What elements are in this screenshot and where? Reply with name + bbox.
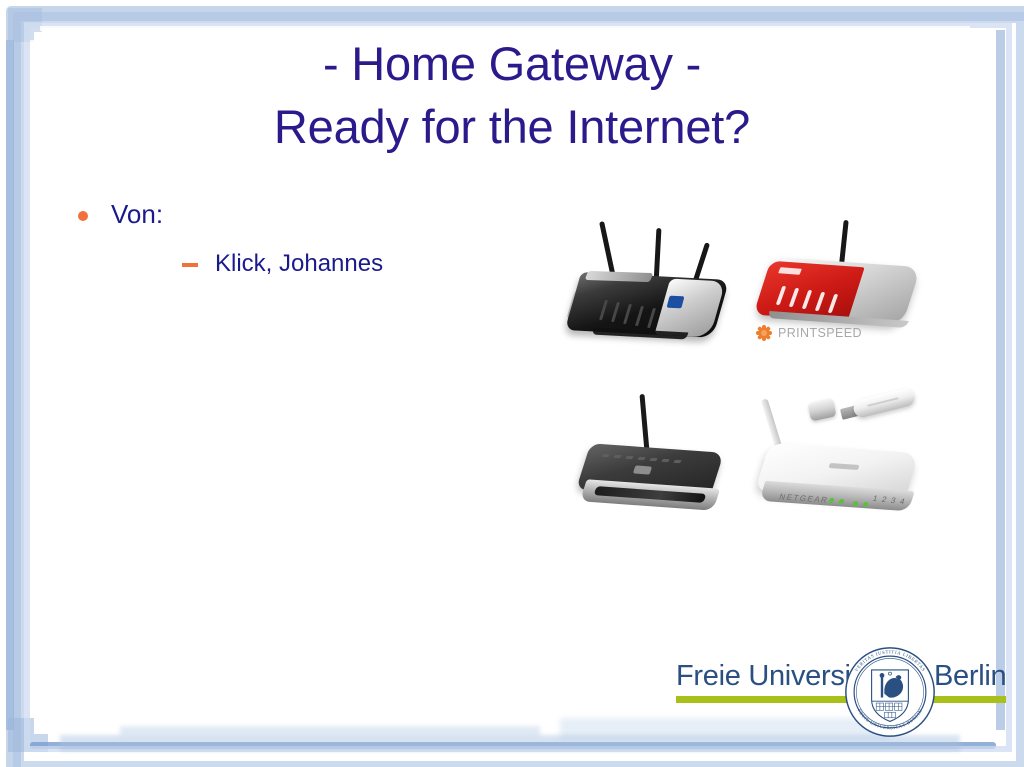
frame-highlight-top	[40, 26, 970, 31]
antenna-icon	[639, 394, 649, 452]
router-photo-cluster: PRINTSPEED	[548, 214, 938, 534]
router-image-white-netgear: NETGEAR 1 2 3 4	[743, 386, 933, 531]
router-image-dark-gray	[568, 392, 743, 527]
logo-text-berlin: Berlin	[934, 660, 1006, 693]
printspeed-watermark: PRINTSPEED	[755, 324, 862, 342]
dash-bullet-icon	[182, 263, 198, 267]
usb-wifi-adapter	[852, 387, 917, 419]
slide-body: Von: Klick, Johannes	[78, 200, 548, 277]
frame-wash-bottom-left	[120, 726, 540, 736]
fu-berlin-logo: Freie Universität Berlin VERITAS IUSTITI…	[676, 648, 1006, 744]
router-brand-mark	[633, 465, 652, 474]
frame-streak-left	[50, 620, 54, 720]
bullet-label: Von:	[111, 200, 163, 230]
bullet-item-von: Von:	[78, 200, 548, 230]
usb-adapter-cap	[807, 398, 836, 422]
frame-corner-top-left	[8, 8, 42, 42]
frame-corner-bottom-left	[8, 718, 48, 752]
round-bullet-icon	[78, 211, 88, 221]
title-line-1: - Home Gateway -	[72, 33, 952, 96]
bullet-item-author: Klick, Johannes	[182, 250, 548, 278]
frame-right-shadow	[996, 30, 1005, 730]
printspeed-label: PRINTSPEED	[778, 326, 862, 340]
printspeed-flower-icon	[755, 324, 773, 342]
router-brand-badge	[667, 296, 685, 309]
router-image-black-three-antennas	[558, 214, 738, 359]
fu-berlin-seal-icon: VERITAS IUSTITIA LIBERTAS FREIE UNIVERSI…	[844, 646, 936, 738]
frame-highlight-left	[30, 40, 35, 710]
title-line-2: Ready for the Internet?	[72, 96, 952, 159]
presentation-slide: - Home Gateway - Ready for the Internet?…	[0, 0, 1024, 767]
bullet-label: Klick, Johannes	[215, 250, 383, 278]
slide-title: - Home Gateway - Ready for the Internet?	[72, 33, 952, 158]
frame-left-shadow	[6, 40, 14, 730]
logo-green-rule	[676, 696, 1006, 703]
router-image-red-fritzbox: PRINTSPEED	[753, 220, 928, 360]
